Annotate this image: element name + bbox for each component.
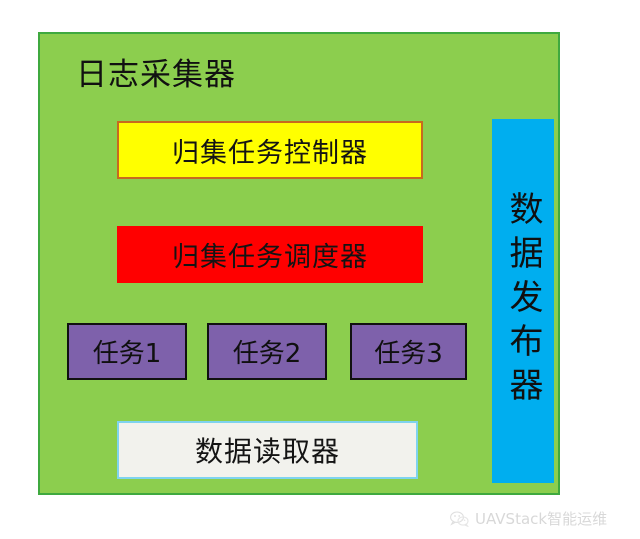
watermark-text: UAVStack智能运维	[475, 508, 607, 529]
collection-task-scheduler-block: 归集任务调度器	[117, 226, 423, 283]
collection-task-controller-block: 归集任务控制器	[117, 121, 423, 179]
data-publisher-label: 数据发布器	[506, 191, 540, 411]
task-2-block: 任务2	[207, 323, 327, 380]
task-3-block: 任务3	[350, 323, 467, 380]
watermark: UAVStack智能运维	[450, 508, 607, 529]
log-collector-container: 日志采集器 归集任务控制器 归集任务调度器 任务1 任务2 任务3 数据读取器 …	[38, 32, 560, 495]
task-1-block: 任务1	[67, 323, 187, 380]
data-reader-block: 数据读取器	[117, 421, 418, 479]
diagram-canvas: 日志采集器 归集任务控制器 归集任务调度器 任务1 任务2 任务3 数据读取器 …	[0, 0, 640, 539]
log-collector-title: 日志采集器	[76, 60, 236, 91]
data-publisher-block: 数据发布器	[492, 119, 554, 483]
wechat-icon	[450, 511, 469, 527]
